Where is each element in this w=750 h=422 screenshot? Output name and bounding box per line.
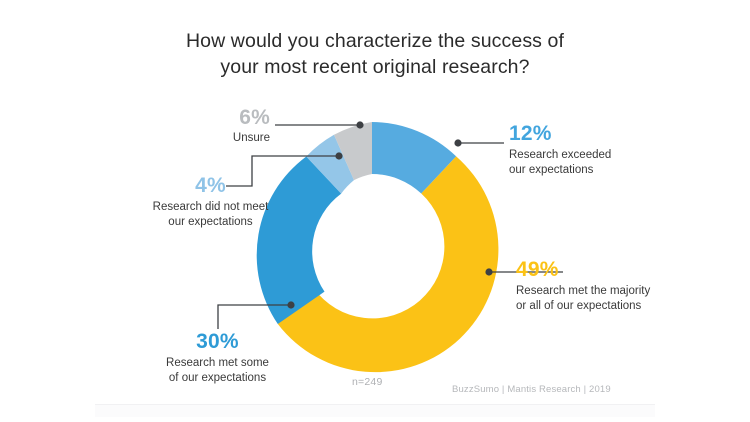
callout-unsure-description: Unsure xyxy=(135,131,270,146)
leader-dot-unsure xyxy=(356,121,363,128)
callout-some[interactable]: 30% Research met some of our expectation… xyxy=(110,330,325,386)
callout-notmet-percent: 4% xyxy=(103,174,318,198)
chart-canvas: How would you characterize the success o… xyxy=(0,0,750,422)
callout-notmet-desc-line-1: Research did not meet xyxy=(153,201,269,213)
sample-size-label: n=249 xyxy=(352,376,383,388)
callout-exceeded-percent: 12% xyxy=(509,122,699,146)
callout-notmet-description: Research did not meet our expectations xyxy=(103,200,318,230)
callout-exceeded-desc-line-1: Research exceeded xyxy=(509,149,611,161)
callout-exceeded-desc-line-2: our expectations xyxy=(509,164,593,176)
callout-unsure[interactable]: 6% Unsure xyxy=(135,106,270,146)
bottom-edge-strip xyxy=(95,404,655,417)
callout-majority-desc-line-2: or all of our expectations xyxy=(516,300,641,312)
callout-majority-desc-line-1: Research met the majority xyxy=(516,285,650,297)
callout-majority[interactable]: 49% Research met the majority or all of … xyxy=(516,258,716,314)
callout-some-description: Research met some of our expectations xyxy=(110,356,325,386)
callout-notmet-desc-line-2: our expectations xyxy=(168,216,252,228)
callout-exceeded[interactable]: 12% Research exceeded our expectations xyxy=(509,122,699,178)
callout-unsure-percent: 6% xyxy=(135,106,270,130)
source-credit-label: BuzzSumo | Mantis Research | 2019 xyxy=(452,384,611,395)
callout-some-desc-line-2: of our expectations xyxy=(169,372,266,384)
callout-majority-description: Research met the majority or all of our … xyxy=(516,284,716,314)
leader-dot-majority xyxy=(485,268,492,275)
callout-some-desc-line-1: Research met some xyxy=(166,357,269,369)
callout-some-percent: 30% xyxy=(110,330,325,354)
callout-majority-percent: 49% xyxy=(516,258,716,282)
callout-notmet[interactable]: 4% Research did not meet our expectation… xyxy=(103,174,318,230)
leader-dot-some xyxy=(287,301,294,308)
leader-dot-exceeded xyxy=(454,139,461,146)
callout-exceeded-description: Research exceeded our expectations xyxy=(509,148,699,178)
leader-dot-notmet xyxy=(335,152,342,159)
